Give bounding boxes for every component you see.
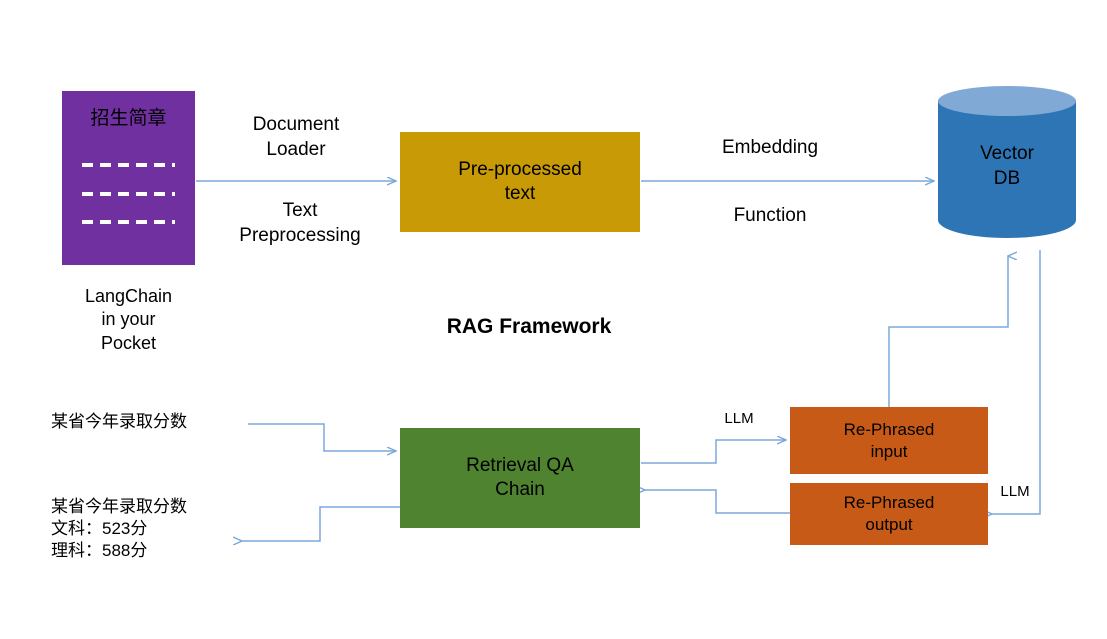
document-loader-label: DocumentLoader	[212, 113, 380, 162]
final-answer-text: 某省今年录取分数文科：523分理科：588分	[51, 496, 271, 562]
retrieval-qa-chain-node[interactable]: Retrieval QAChain	[400, 428, 640, 528]
source-document-title: 招生简章	[62, 107, 195, 131]
edge-chain-to-rephrased-input	[641, 440, 786, 463]
edge-vectordb-to-rephrased-output	[992, 250, 1040, 514]
source-document-caption: LangChainin yourPocket	[62, 285, 195, 355]
rephrased-input-node[interactable]: Re-Phrasedinput	[790, 407, 988, 474]
llm-input-label: LLM	[716, 409, 762, 429]
user-query-text: 某省今年录取分数	[51, 411, 261, 433]
edge-rephrased-input-to-vectordb	[889, 256, 1008, 407]
edge-query-to-chain	[248, 424, 396, 451]
source-document-node[interactable]: 招生简章	[62, 91, 195, 265]
document-line-1	[82, 163, 175, 167]
llm-output-label: LLM	[992, 482, 1038, 502]
vector-db-node[interactable]: VectorDB	[938, 86, 1076, 252]
diagram-title: RAG Framework	[400, 313, 658, 340]
text-preprocessing-label: TextPreprocessing	[205, 199, 395, 248]
vector-db-label: VectorDB	[938, 142, 1076, 191]
cylinder-top-icon	[938, 86, 1076, 116]
document-line-3	[82, 220, 175, 224]
document-line-2	[82, 192, 175, 196]
rag-framework-diagram: 招生简章 LangChainin yourPocket DocumentLoad…	[0, 0, 1107, 639]
rephrased-output-node[interactable]: Re-Phrasedoutput	[790, 483, 988, 545]
edge-rephrased-output-to-chain	[645, 490, 790, 513]
preprocessed-text-node[interactable]: Pre-processedtext	[400, 132, 640, 232]
embedding-label: Embedding	[700, 136, 840, 161]
function-label: Function	[700, 204, 840, 229]
